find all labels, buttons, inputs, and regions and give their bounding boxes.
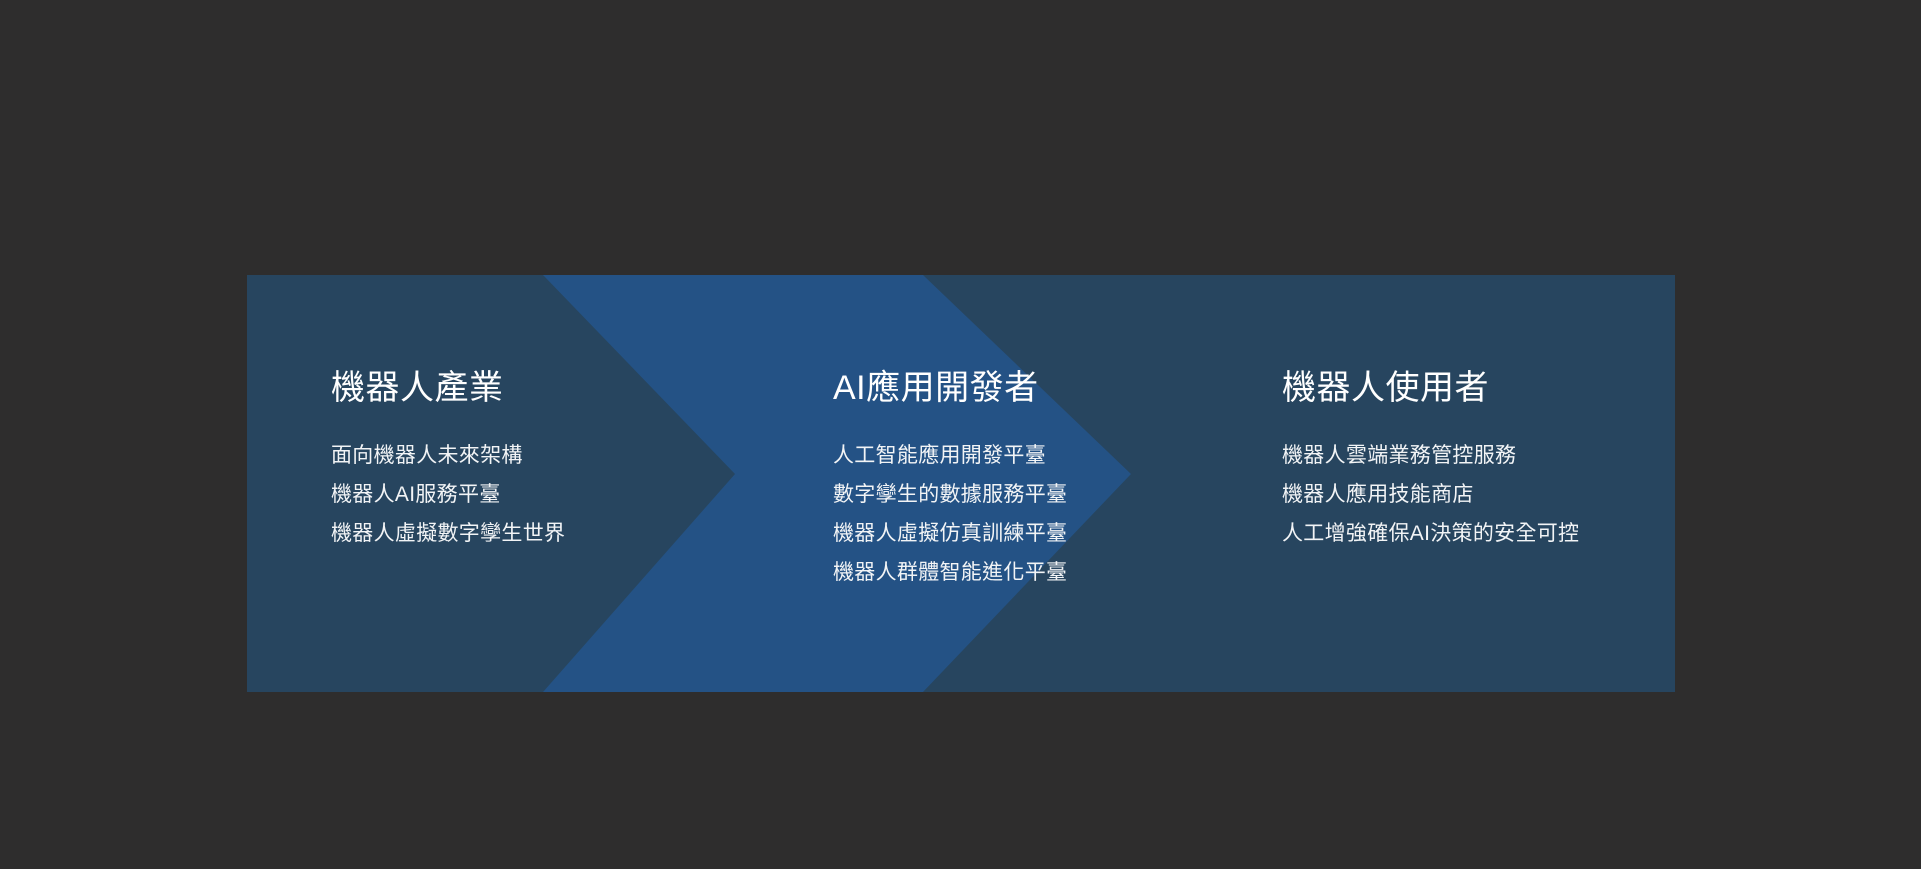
- list-item: 機器人AI服務平臺: [331, 475, 721, 514]
- column-2-heading: AI應用開發者: [833, 368, 1233, 408]
- diagram-column-2: AI應用開發者 人工智能應用開發平臺 數字孿生的數據服務平臺 機器人虛擬仿真訓練…: [833, 368, 1233, 592]
- list-item: 人工智能應用開發平臺: [833, 436, 1233, 475]
- list-item: 人工增強確保AI決策的安全可控: [1282, 514, 1652, 553]
- list-item: 機器人虛擬數字孿生世界: [331, 514, 721, 553]
- column-2-item-list: 人工智能應用開發平臺 數字孿生的數據服務平臺 機器人虛擬仿真訓練平臺 機器人群體…: [833, 436, 1233, 592]
- diagram-columns: 機器人產業 面向機器人未來架構 機器人AI服務平臺 機器人虛擬數字孿生世界 AI…: [247, 275, 1675, 692]
- list-item: 機器人虛擬仿真訓練平臺: [833, 514, 1233, 553]
- column-1-heading: 機器人產業: [331, 368, 721, 408]
- column-3-item-list: 機器人雲端業務管控服務 機器人應用技能商店 人工增強確保AI決策的安全可控: [1282, 436, 1652, 553]
- list-item: 數字孿生的數據服務平臺: [833, 475, 1233, 514]
- diagram-column-3: 機器人使用者 機器人雲端業務管控服務 機器人應用技能商店 人工增強確保AI決策的…: [1282, 368, 1652, 553]
- list-item: 機器人應用技能商店: [1282, 475, 1652, 514]
- column-3-heading: 機器人使用者: [1282, 368, 1652, 408]
- column-1-item-list: 面向機器人未來架構 機器人AI服務平臺 機器人虛擬數字孿生世界: [331, 436, 721, 553]
- list-item: 機器人雲端業務管控服務: [1282, 436, 1652, 475]
- diagram-column-1: 機器人產業 面向機器人未來架構 機器人AI服務平臺 機器人虛擬數字孿生世界: [331, 368, 721, 553]
- list-item: 面向機器人未來架構: [331, 436, 721, 475]
- list-item: 機器人群體智能進化平臺: [833, 553, 1233, 592]
- diagram-band: 機器人產業 面向機器人未來架構 機器人AI服務平臺 機器人虛擬數字孿生世界 AI…: [247, 275, 1675, 692]
